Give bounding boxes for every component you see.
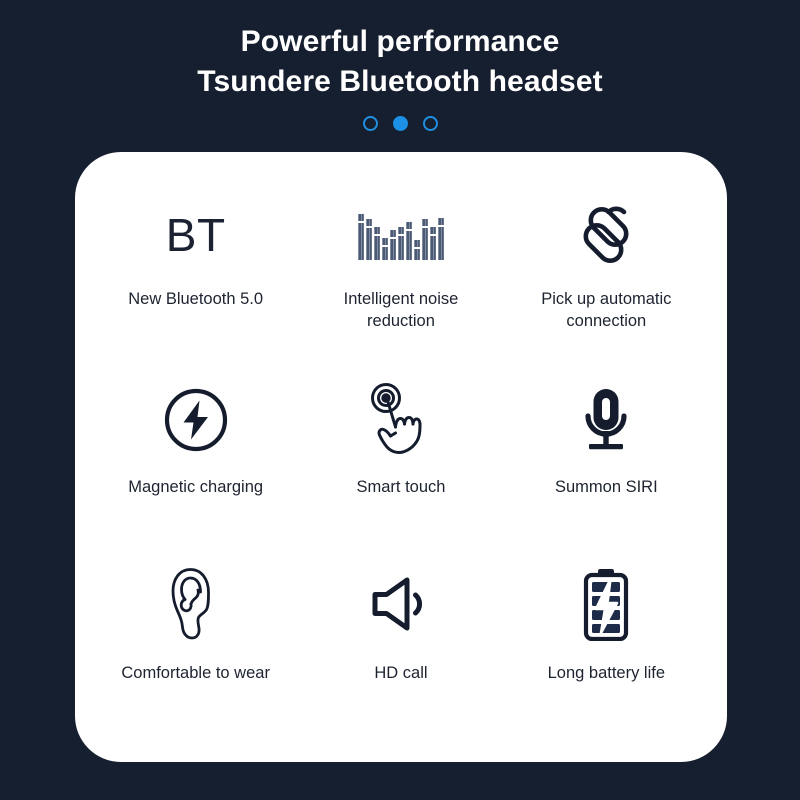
- feature-long-battery-life[interactable]: Long battery life: [504, 551, 709, 736]
- equalizer-icon: [358, 196, 443, 274]
- speaker-icon: [369, 565, 433, 643]
- carousel-dot-3[interactable]: [423, 116, 438, 131]
- touch-hand-icon: [365, 381, 437, 459]
- page-title-line-2: Tsundere Bluetooth headset: [0, 62, 800, 102]
- lightning-in-circle-icon: [163, 381, 229, 459]
- feature-auto-connection[interactable]: Pick up automatic connection: [504, 182, 709, 367]
- feature-new-bluetooth[interactable]: BT New Bluetooth 5.0: [93, 182, 298, 367]
- feature-label: HD call: [374, 662, 427, 684]
- chain-link-icon: [575, 196, 637, 274]
- feature-smart-touch[interactable]: Smart touch: [298, 367, 503, 552]
- equalizer-bars: [358, 210, 443, 260]
- feature-grid: BT New Bluetooth 5.0: [75, 152, 727, 762]
- feature-label: Comfortable to wear: [121, 662, 270, 684]
- feature-label: Intelligent noise reduction: [316, 288, 486, 332]
- feature-magnetic-charging[interactable]: Magnetic charging: [93, 367, 298, 552]
- feature-comfortable-to-wear[interactable]: Comfortable to wear: [93, 551, 298, 736]
- carousel-indicator[interactable]: [0, 114, 800, 132]
- feature-summon-siri[interactable]: Summon SIRI: [504, 367, 709, 552]
- feature-noise-reduction[interactable]: Intelligent noise reduction: [298, 182, 503, 367]
- page-header: Powerful performance Tsundere Bluetooth …: [0, 0, 800, 132]
- carousel-dot-2[interactable]: [393, 116, 408, 131]
- feature-label: New Bluetooth 5.0: [128, 288, 263, 310]
- microphone-icon: [575, 381, 637, 459]
- bt-text-icon-label: BT: [166, 212, 226, 258]
- carousel-dot-1[interactable]: [363, 116, 378, 131]
- feature-label: Magnetic charging: [128, 476, 263, 498]
- feature-label: Smart touch: [357, 476, 446, 498]
- feature-label: Pick up automatic connection: [521, 288, 691, 332]
- feature-label: Summon SIRI: [555, 476, 658, 498]
- feature-hd-call[interactable]: HD call: [298, 551, 503, 736]
- feature-label: Long battery life: [548, 662, 665, 684]
- page-title-line-1: Powerful performance: [0, 22, 800, 62]
- battery-charging-icon: [580, 565, 632, 643]
- feature-card: BT New Bluetooth 5.0: [75, 152, 727, 762]
- bt-text-icon: BT: [166, 196, 226, 274]
- ear-icon: [167, 565, 225, 643]
